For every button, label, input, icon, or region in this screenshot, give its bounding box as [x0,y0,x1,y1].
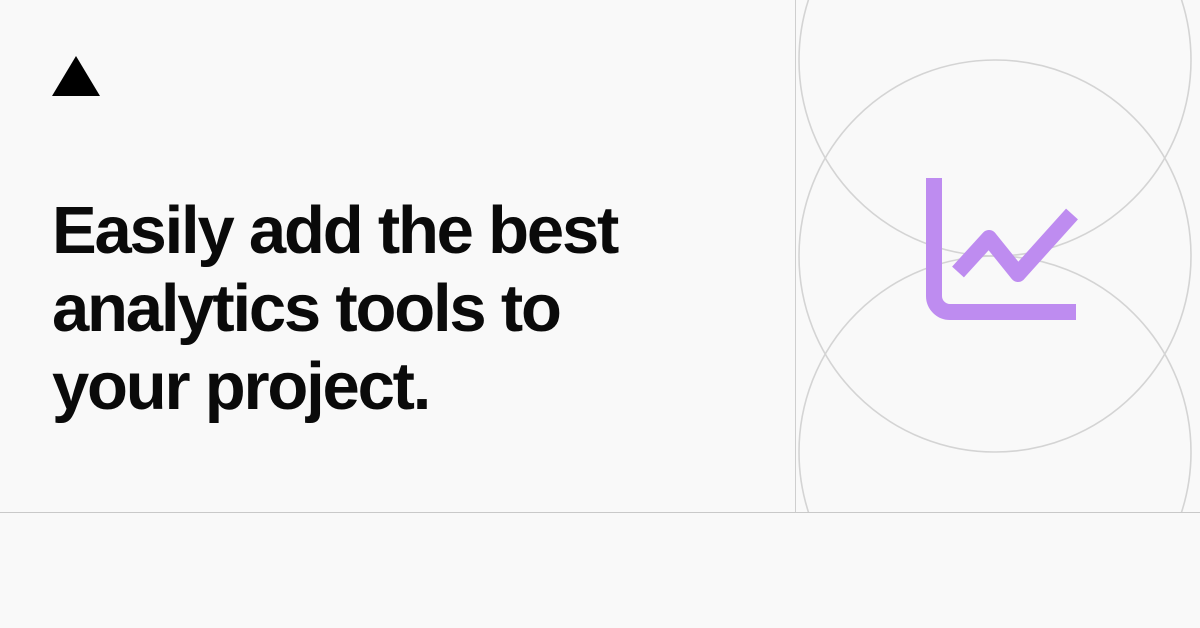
headline-line-1: Easily add the best [52,192,752,270]
page-title: Easily add the best analytics tools to y… [52,192,752,426]
right-panel [796,0,1200,513]
banner-canvas: Easily add the best analytics tools to y… [0,0,1200,628]
line-chart-icon [926,170,1086,320]
left-panel: Easily add the best analytics tools to y… [0,0,795,513]
headline-line-2: analytics tools to [52,270,752,348]
triangle-logo-icon [52,56,100,96]
headline-line-3: your project. [52,348,752,426]
